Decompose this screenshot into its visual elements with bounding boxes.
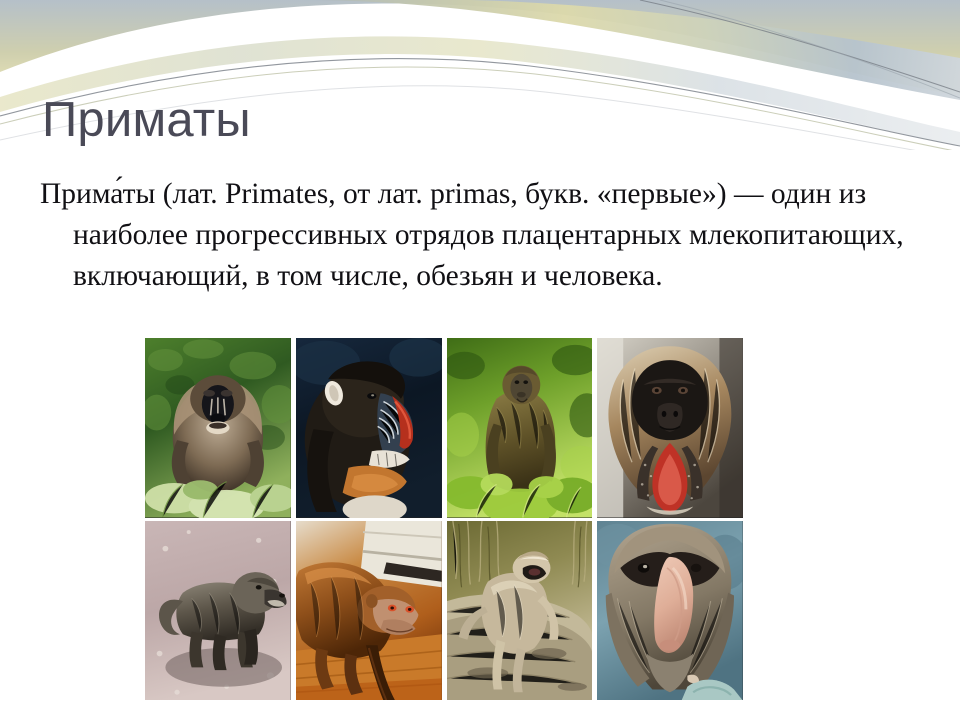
- swoosh-band-base: [0, 0, 960, 96]
- photo-gelada-baboon-front-in-foliage: [145, 338, 291, 518]
- swoosh-hairline-4: [660, 0, 960, 98]
- photo-gelada-male-with-red-chest-patch: [597, 338, 743, 518]
- photo-olive-baboon-sitting-in-green-vegetation: [447, 338, 593, 518]
- presentation-slide: Приматы Прима́ты (лат. Primates, от лат.…: [0, 0, 960, 720]
- photo-patas-monkey-on-dry-log: [447, 521, 593, 701]
- body-paragraph: Прима́ты (лат. Primates, от лат. primas,…: [40, 174, 920, 297]
- photo-red-macaque-on-wooden-floor: [296, 521, 442, 701]
- swoosh-hairline-3: [640, 0, 960, 92]
- slide-title: Приматы: [42, 95, 742, 146]
- body-paragraph-text: Прима́ты (лат. Primates, от лат. primas,…: [40, 178, 904, 292]
- body-text-block: Прима́ты (лат. Primates, от лат. primas,…: [40, 174, 920, 297]
- swoosh-band-blue: [300, 0, 960, 100]
- photo-mandrill-profile-dark-background: [296, 338, 442, 518]
- photo-baboon-walking-on-sand: [145, 521, 291, 701]
- photo-proboscis-monkey-closeup: [597, 521, 743, 701]
- primate-photo-grid: [145, 338, 743, 700]
